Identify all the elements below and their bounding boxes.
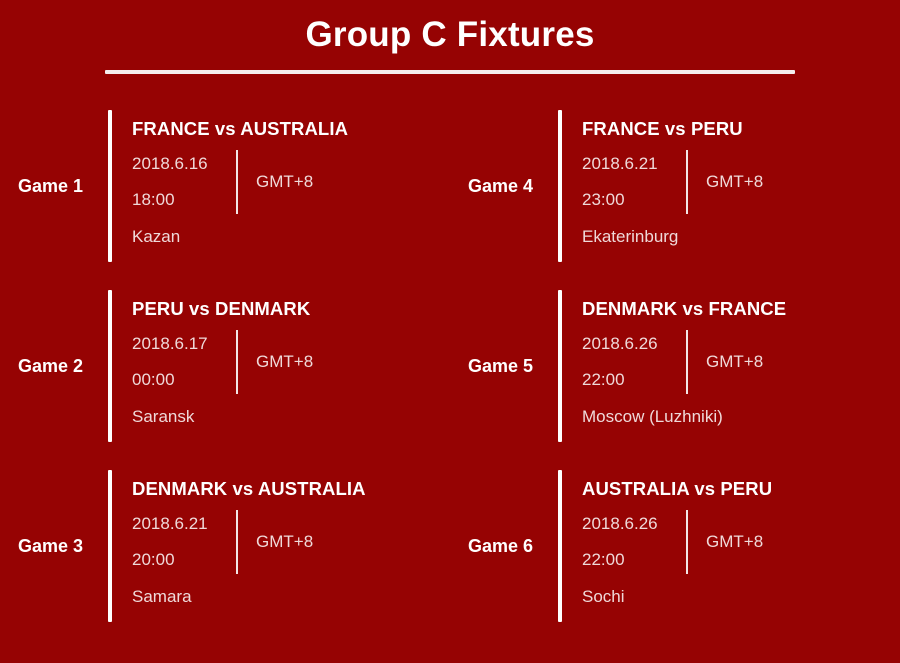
game-number-label: Game 6: [468, 536, 558, 557]
card-vertical-divider: [108, 290, 112, 442]
card-vertical-divider: [558, 110, 562, 262]
matchup-title: AUSTRALIA vs PERU: [582, 478, 900, 500]
match-timezone: GMT+8: [706, 172, 763, 192]
match-date: 2018.6.16: [132, 146, 236, 182]
match-venue: Samara: [132, 580, 450, 614]
matchup-title: FRANCE vs AUSTRALIA: [132, 118, 450, 140]
datetime-column: 2018.6.26 22:00: [582, 326, 686, 398]
datetime-column: 2018.6.17 00:00: [132, 326, 236, 398]
match-date: 2018.6.17: [132, 326, 236, 362]
match-venue: Moscow (Luzhniki): [582, 400, 900, 434]
fixtures-grid: Game 1 FRANCE vs AUSTRALIA 2018.6.16 18:…: [0, 96, 900, 636]
fixture-card[interactable]: Game 4 FRANCE vs PERU 2018.6.21 23:00 GM…: [450, 96, 900, 276]
match-venue: Sochi: [582, 580, 900, 614]
fixture-card[interactable]: Game 2 PERU vs DENMARK 2018.6.17 00:00 G…: [0, 276, 450, 456]
matchup-title: DENMARK vs FRANCE: [582, 298, 900, 320]
game-number-label: Game 1: [18, 176, 108, 197]
schedule-row: 2018.6.26 22:00 GMT+8: [582, 326, 900, 398]
matchup-title: DENMARK vs AUSTRALIA: [132, 478, 450, 500]
match-time: 22:00: [582, 362, 686, 398]
timezone-column: GMT+8: [238, 146, 313, 218]
match-venue: Kazan: [132, 220, 450, 254]
timezone-column: GMT+8: [688, 506, 763, 578]
fixtures-page: Group C Fixtures Game 1 FRANCE vs AUSTRA…: [0, 0, 900, 663]
match-date: 2018.6.26: [582, 506, 686, 542]
matchup-title: FRANCE vs PERU: [582, 118, 900, 140]
timezone-column: GMT+8: [238, 506, 313, 578]
match-date: 2018.6.26: [582, 326, 686, 362]
fixture-details: DENMARK vs FRANCE 2018.6.26 22:00 GMT+8 …: [582, 298, 900, 434]
datetime-column: 2018.6.21 20:00: [132, 506, 236, 578]
match-time: 00:00: [132, 362, 236, 398]
matchup-title: PERU vs DENMARK: [132, 298, 450, 320]
fixture-card[interactable]: Game 1 FRANCE vs AUSTRALIA 2018.6.16 18:…: [0, 96, 450, 276]
game-number-label: Game 5: [468, 356, 558, 377]
card-vertical-divider: [108, 110, 112, 262]
card-vertical-divider: [558, 290, 562, 442]
schedule-row: 2018.6.26 22:00 GMT+8: [582, 506, 900, 578]
match-time: 22:00: [582, 542, 686, 578]
match-timezone: GMT+8: [256, 172, 313, 192]
game-number-label: Game 2: [18, 356, 108, 377]
fixture-details: FRANCE vs AUSTRALIA 2018.6.16 18:00 GMT+…: [132, 118, 450, 254]
game-number-label: Game 4: [468, 176, 558, 197]
match-time: 23:00: [582, 182, 686, 218]
page-title: Group C Fixtures: [0, 14, 900, 56]
timezone-column: GMT+8: [688, 326, 763, 398]
card-vertical-divider: [558, 470, 562, 622]
match-time: 18:00: [132, 182, 236, 218]
match-timezone: GMT+8: [256, 532, 313, 552]
match-venue: Saransk: [132, 400, 450, 434]
match-timezone: GMT+8: [706, 532, 763, 552]
datetime-column: 2018.6.21 23:00: [582, 146, 686, 218]
game-number-label: Game 3: [18, 536, 108, 557]
datetime-column: 2018.6.26 22:00: [582, 506, 686, 578]
fixture-details: FRANCE vs PERU 2018.6.21 23:00 GMT+8 Eka…: [582, 118, 900, 254]
fixture-details: PERU vs DENMARK 2018.6.17 00:00 GMT+8 Sa…: [132, 298, 450, 434]
fixture-card[interactable]: Game 6 AUSTRALIA vs PERU 2018.6.26 22:00…: [450, 456, 900, 636]
match-date: 2018.6.21: [132, 506, 236, 542]
title-underline-rule: [105, 70, 795, 74]
match-timezone: GMT+8: [706, 352, 763, 372]
match-timezone: GMT+8: [256, 352, 313, 372]
schedule-row: 2018.6.17 00:00 GMT+8: [132, 326, 450, 398]
schedule-row: 2018.6.16 18:00 GMT+8: [132, 146, 450, 218]
fixture-details: AUSTRALIA vs PERU 2018.6.26 22:00 GMT+8 …: [582, 478, 900, 614]
datetime-column: 2018.6.16 18:00: [132, 146, 236, 218]
match-time: 20:00: [132, 542, 236, 578]
card-vertical-divider: [108, 470, 112, 622]
match-venue: Ekaterinburg: [582, 220, 900, 254]
page-header: Group C Fixtures: [0, 0, 900, 74]
fixture-card[interactable]: Game 3 DENMARK vs AUSTRALIA 2018.6.21 20…: [0, 456, 450, 636]
timezone-column: GMT+8: [688, 146, 763, 218]
schedule-row: 2018.6.21 20:00 GMT+8: [132, 506, 450, 578]
timezone-column: GMT+8: [238, 326, 313, 398]
fixture-details: DENMARK vs AUSTRALIA 2018.6.21 20:00 GMT…: [132, 478, 450, 614]
fixture-card[interactable]: Game 5 DENMARK vs FRANCE 2018.6.26 22:00…: [450, 276, 900, 456]
schedule-row: 2018.6.21 23:00 GMT+8: [582, 146, 900, 218]
match-date: 2018.6.21: [582, 146, 686, 182]
